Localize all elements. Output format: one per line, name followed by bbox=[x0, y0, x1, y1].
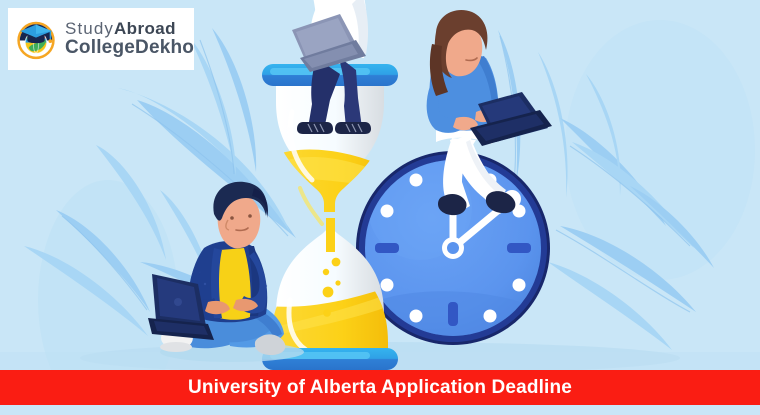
banner-title-text: University of Alberta Application Deadli… bbox=[188, 377, 572, 399]
logo-wordmark: StudyAbroad CollegeDekho bbox=[65, 20, 194, 57]
logo-line-collegedekho: CollegeDekho bbox=[65, 38, 194, 58]
clock-tick-6 bbox=[448, 302, 458, 326]
hourglass-sand-stream bbox=[326, 218, 335, 252]
site-logo[interactable]: StudyAbroad CollegeDekho bbox=[8, 8, 194, 70]
logo-line-studyabroad: StudyAbroad bbox=[65, 20, 194, 38]
bottom-strip bbox=[0, 405, 760, 415]
graduation-cap-globe-badge-icon bbox=[13, 16, 59, 62]
clock-tick-3 bbox=[507, 243, 531, 253]
clock-tick-9 bbox=[375, 243, 399, 253]
title-banner: University of Alberta Application Deadli… bbox=[0, 370, 760, 405]
hero-banner-image: StudyAbroad CollegeDekho University of A… bbox=[0, 0, 760, 415]
